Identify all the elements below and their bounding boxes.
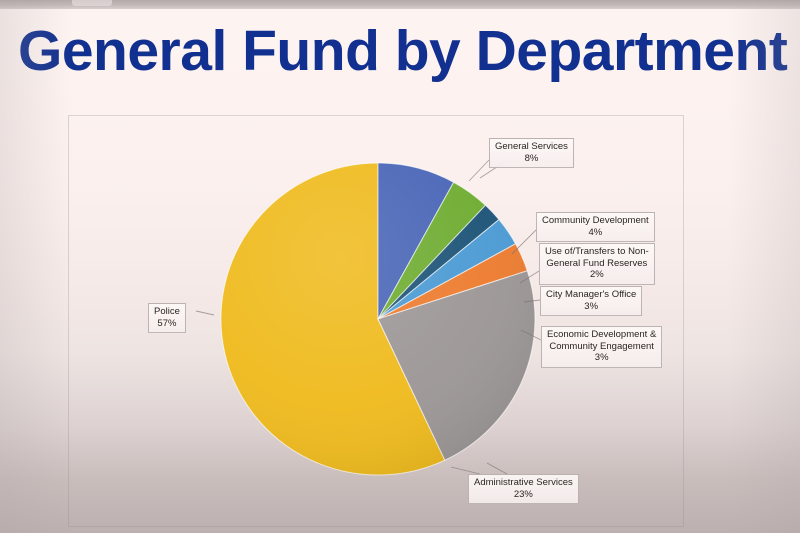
leader-line-community-development bbox=[512, 230, 536, 254]
pie-label-community-development-pct: 4% bbox=[542, 227, 649, 239]
pie-label-administrative-services[interactable]: Administrative Services 23% bbox=[468, 474, 579, 504]
pie-sheen bbox=[222, 163, 534, 475]
pie-label-reserves-line1: Use of/Transfers to Non- bbox=[545, 246, 649, 257]
pie-chart bbox=[0, 0, 800, 533]
pie-label-economic-development-line2: Community Engagement bbox=[549, 341, 654, 352]
leader-line-general-services bbox=[469, 160, 489, 181]
pie-label-general-services-name: General Services bbox=[495, 141, 568, 152]
pie-label-economic-development-line1: Economic Development & bbox=[547, 329, 656, 340]
pie-label-general-services-pct: 8% bbox=[495, 153, 568, 165]
pie-label-administrative-services-pct: 23% bbox=[474, 489, 573, 501]
pie-chart-svg bbox=[0, 0, 800, 533]
leader-line-police bbox=[196, 311, 214, 315]
pie-label-city-managers-office-pct: 3% bbox=[546, 301, 636, 313]
pie-label-general-services[interactable]: General Services 8% bbox=[489, 138, 574, 168]
pie-label-community-development[interactable]: Community Development 4% bbox=[536, 212, 655, 242]
pie-label-city-managers-office-name: City Manager's Office bbox=[546, 289, 636, 300]
pie-label-city-managers-office[interactable]: City Manager's Office 3% bbox=[540, 286, 642, 316]
leader-line-administrative-1 bbox=[451, 467, 480, 474]
pie-label-police-name: Police bbox=[154, 306, 180, 317]
pie-label-economic-development-pct: 3% bbox=[547, 352, 656, 364]
slide-canvas: General Fund by Department bbox=[0, 0, 800, 533]
pie-label-reserves-pct: 2% bbox=[545, 269, 649, 281]
pie-label-administrative-services-name: Administrative Services bbox=[474, 477, 573, 488]
pie-label-economic-development[interactable]: Economic Development & Community Engagem… bbox=[541, 326, 662, 368]
pie-label-community-development-name: Community Development bbox=[542, 215, 649, 226]
leader-line-administrative-2 bbox=[487, 463, 507, 474]
pie-label-reserves-line2: General Fund Reserves bbox=[546, 258, 647, 269]
pie-label-police[interactable]: Police 57% bbox=[148, 303, 186, 333]
pie-label-police-pct: 57% bbox=[154, 318, 180, 330]
pie-label-reserves[interactable]: Use of/Transfers to Non- General Fund Re… bbox=[539, 243, 655, 285]
